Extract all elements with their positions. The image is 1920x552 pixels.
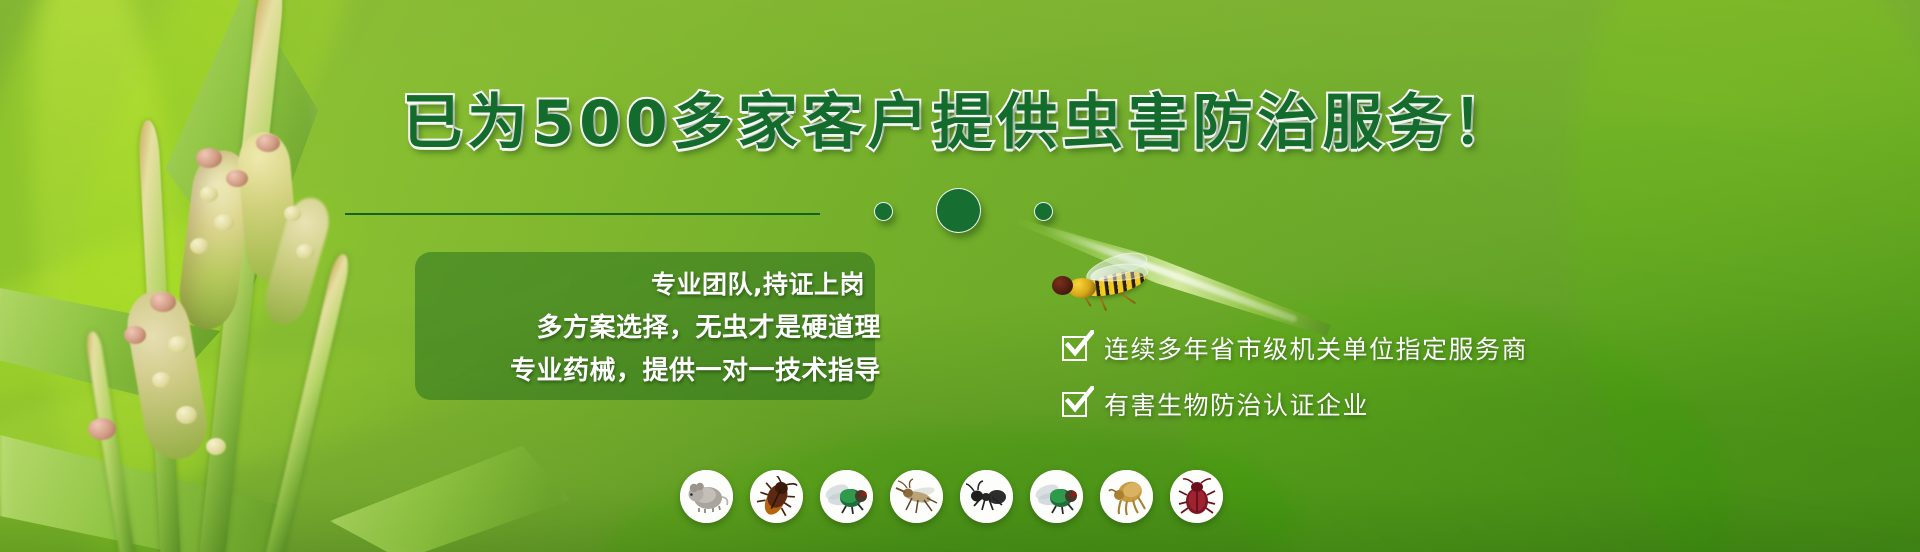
checklist-item-1-label: 连续多年省市级机关单位指定服务商 [1104, 330, 1528, 366]
feature-line-2: 多方案选择，无虫才是硬道理 [536, 307, 881, 344]
checkbox-checked-icon [1062, 334, 1090, 362]
flea-icon [1106, 476, 1148, 518]
blowfly-icon [824, 477, 870, 517]
pest-icon-ant[interactable]: 蚂蚁 [960, 470, 1013, 523]
mouse-icon [685, 477, 729, 517]
decorative-dot-large-center [936, 188, 981, 233]
feature-panel-text: 专业团队,持证上岗 多方案选择，无虫才是硬道理 专业药械，提供一对一技术指导 [415, 252, 893, 400]
pest-control-hero-banner: 已为500多家客户提供虫害防治服务！ 专业团队,持证上岗 多方案选择，无虫才是硬… [0, 0, 1920, 552]
pest-icon-blowfly[interactable]: 苍蝇 [820, 470, 873, 523]
pest-icon-blowfly-2[interactable]: 苍蝇 [1030, 470, 1083, 523]
pest-icon-flea[interactable]: 跳蚤 [1100, 470, 1153, 523]
page-title: 已为500多家客户提供虫害防治服务！ [0, 74, 1920, 161]
hoverfly-icon [1040, 252, 1160, 318]
blowfly-icon-2 [1034, 477, 1080, 517]
checklist-item-2: 有害生物防治认证企业 [1062, 386, 1528, 422]
feature-line-3: 专业药械，提供一对一技术指导 [510, 350, 881, 387]
feature-line-1: 专业团队,持证上岗 [651, 265, 865, 301]
checkbox-checked-icon [1062, 390, 1090, 418]
breadcrumb-rule [345, 213, 820, 215]
pest-icon-mouse[interactable]: 鼠 [680, 470, 733, 523]
checklist-item-2-label: 有害生物防治认证企业 [1104, 386, 1369, 422]
credentials-checklist: 连续多年省市级机关单位指定服务商 有害生物防治认证企业 [1062, 330, 1528, 422]
ant-icon [965, 477, 1009, 517]
pest-icon-strip: 鼠 蟑螂 [680, 470, 1223, 523]
bedbug-icon [1176, 476, 1218, 518]
cockroach-icon [756, 476, 798, 518]
pest-icon-cockroach[interactable]: 蟑螂 [750, 470, 803, 523]
pest-icon-mosquito[interactable]: 蚊 [890, 470, 943, 523]
pest-icon-bedbug[interactable]: 臭虫 [1170, 470, 1223, 523]
checklist-item-1: 连续多年省市级机关单位指定服务商 [1062, 330, 1528, 366]
mosquito-icon [894, 477, 940, 517]
decorative-dot-small-left [874, 202, 893, 221]
